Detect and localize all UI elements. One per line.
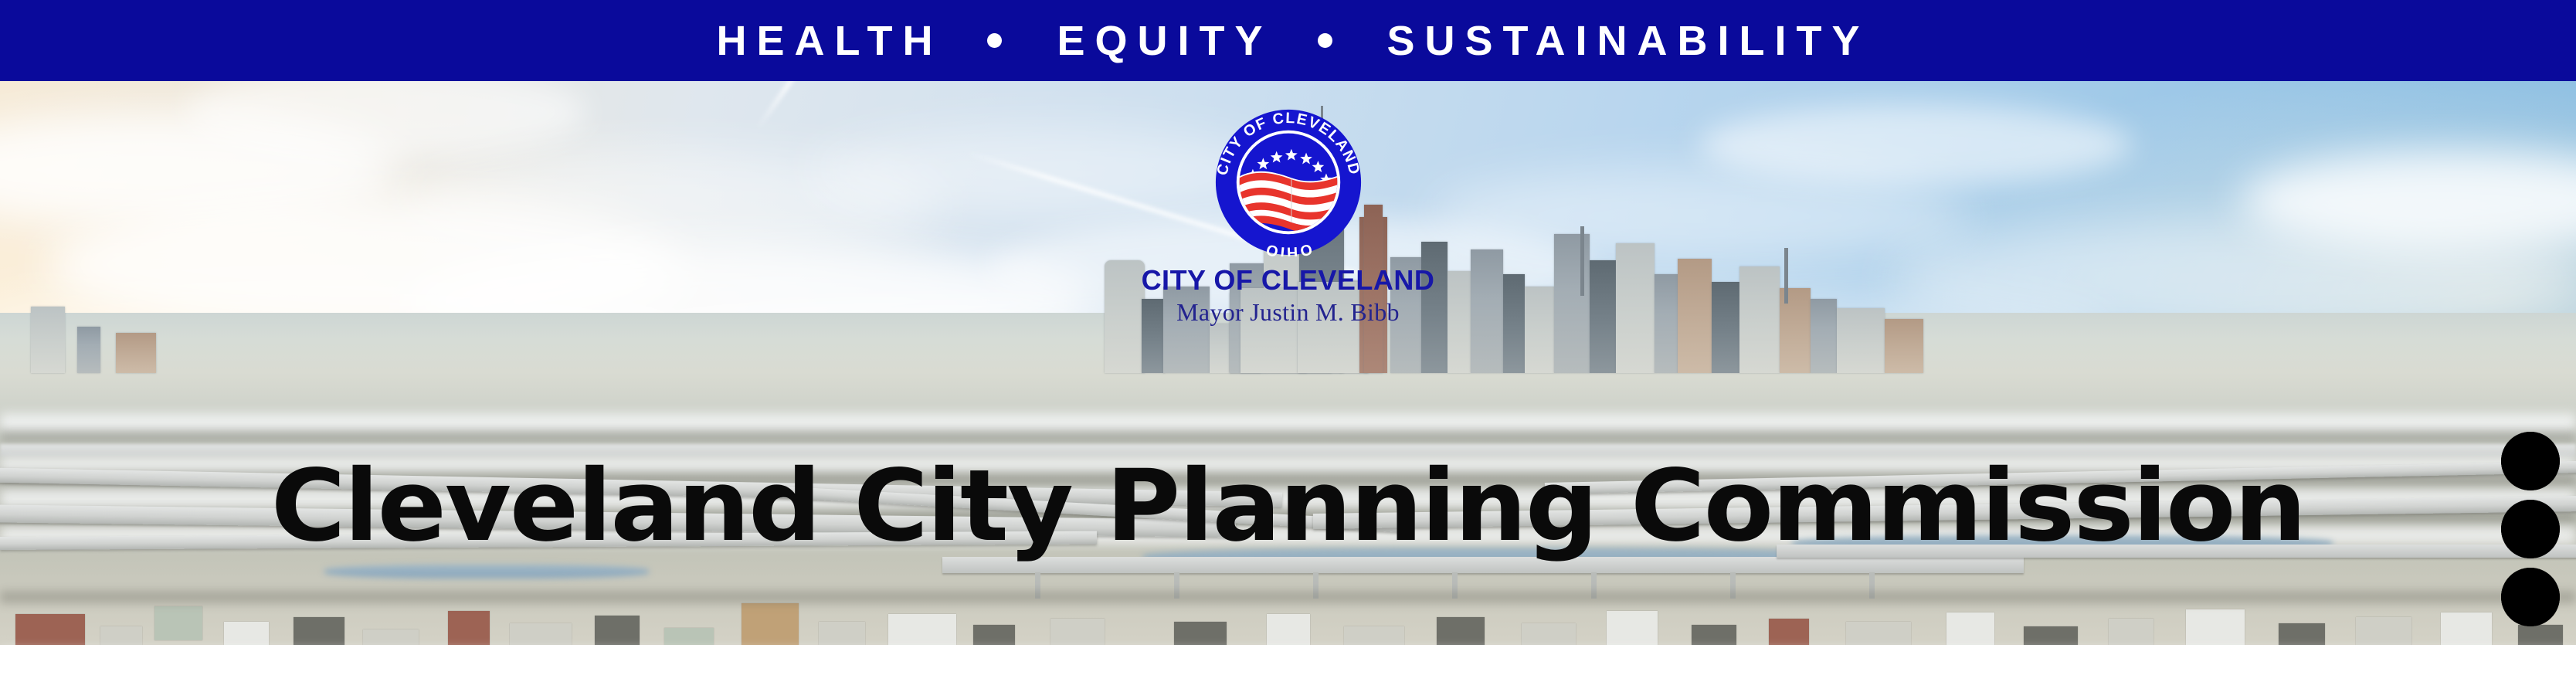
house [294,617,344,645]
smokestack [1784,248,1788,304]
house [1846,622,1911,645]
house [888,614,956,645]
facebook-icon [2501,568,2560,626]
page-title: Cleveland City Planning Commission [0,457,2576,556]
house [2109,619,2153,645]
building [31,307,65,373]
house [742,603,799,645]
building [116,333,156,373]
building [1554,234,1590,373]
house [15,614,85,645]
instagram-icon [2501,500,2560,558]
house [448,611,490,645]
social-link-youtube[interactable] [2501,432,2560,490]
house [2186,609,2245,645]
tagline-banner: HEALTH EQUITY SUSTAINABILITY [0,0,2576,81]
house [1692,625,1736,645]
bottom-white-strip [0,645,2576,682]
cuyahoga-river [324,565,649,579]
building [77,327,100,373]
building [1739,266,1780,373]
rail-yard-band [0,430,2576,443]
house [819,622,865,645]
building [1590,260,1616,373]
house [1174,622,1227,645]
house [1769,619,1809,645]
city-of-cleveland-seal-icon: CITY OF CLEVELAND OHIO [1214,108,1363,256]
tagline-word-equity: EQUITY [1047,20,1272,62]
tagline-word-health: HEALTH [706,20,942,62]
page-root: HEALTH EQUITY SUSTAINABILITY [0,0,2576,682]
house [595,616,640,645]
youtube-icon [2501,432,2560,490]
building [1837,308,1885,373]
tagline-word-sustainability: SUSTAINABILITY [1377,20,1870,62]
house [510,623,572,645]
house [154,606,202,640]
bullet-dot-icon [987,33,1002,48]
city-identity-block: CITY OF CLEVELAND OHIO [1073,108,1503,325]
house [1050,619,1105,645]
building [1616,243,1655,373]
house [1267,614,1310,645]
house [664,628,714,645]
house [100,626,142,645]
building [1712,282,1739,373]
building [1655,274,1678,373]
building [1678,259,1712,373]
house [2024,626,2078,645]
house [1946,612,1994,645]
mayor-name-label: Mayor Justin M. Bibb [1073,300,1503,326]
city-name-label: CITY OF CLEVELAND [1073,266,1503,295]
house [2356,617,2411,645]
house [2441,612,2492,645]
house [224,622,269,645]
house [973,625,1015,645]
bullet-dot-icon [1318,33,1332,48]
smokestack [1580,226,1584,296]
social-link-facebook[interactable] [2501,568,2560,626]
house [2518,625,2563,645]
social-links-rail [2501,432,2560,626]
building [1885,319,1923,373]
house [1344,626,1404,645]
house [1437,617,1485,645]
tagline: HEALTH EQUITY SUSTAINABILITY [706,20,1869,62]
house [1607,611,1658,645]
building [1503,274,1525,373]
house [1522,623,1576,645]
house [363,629,419,645]
tree-line-band [0,591,2576,603]
building [1525,287,1554,373]
building [1811,299,1837,373]
house [2279,623,2325,645]
social-link-instagram[interactable] [2501,500,2560,558]
